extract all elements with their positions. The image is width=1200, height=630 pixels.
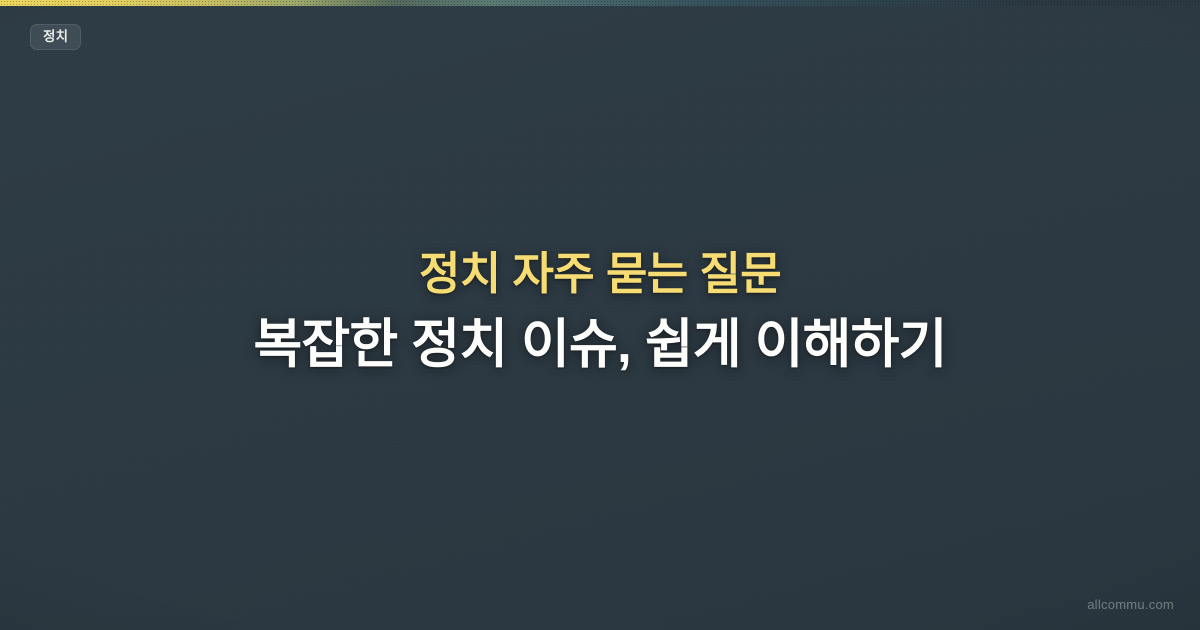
headline-block: 정치 자주 묻는 질문 복잡한 정치 이슈, 쉽게 이해하기 bbox=[0, 0, 1200, 630]
category-badge-label: 정치 bbox=[43, 30, 68, 44]
page-title-secondary: 복잡한 정치 이슈, 쉽게 이해하기 bbox=[253, 314, 946, 377]
site-watermark: allcommu.com bbox=[1087, 597, 1174, 612]
category-badge[interactable]: 정치 bbox=[30, 24, 81, 50]
page-title-primary: 정치 자주 묻는 질문 bbox=[419, 247, 781, 300]
og-card: 정치 정치 자주 묻는 질문 복잡한 정치 이슈, 쉽게 이해하기 allcom… bbox=[0, 0, 1200, 630]
